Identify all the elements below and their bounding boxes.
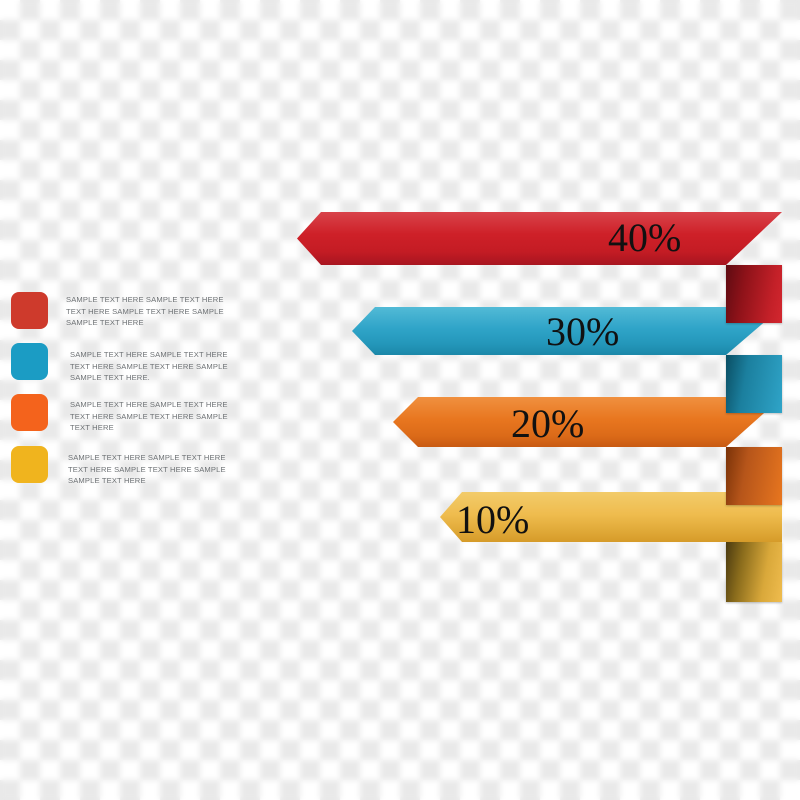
ribbon-red[interactable]: 40%	[0, 0, 800, 800]
ribbon-red-value: 40%	[608, 218, 681, 258]
ribbon-red-fold	[726, 265, 782, 323]
infographic-canvas: SAMPLE TEXT HERE SAMPLE TEXT HERE TEXT H…	[0, 0, 800, 800]
ribbon-red-band	[297, 212, 782, 265]
